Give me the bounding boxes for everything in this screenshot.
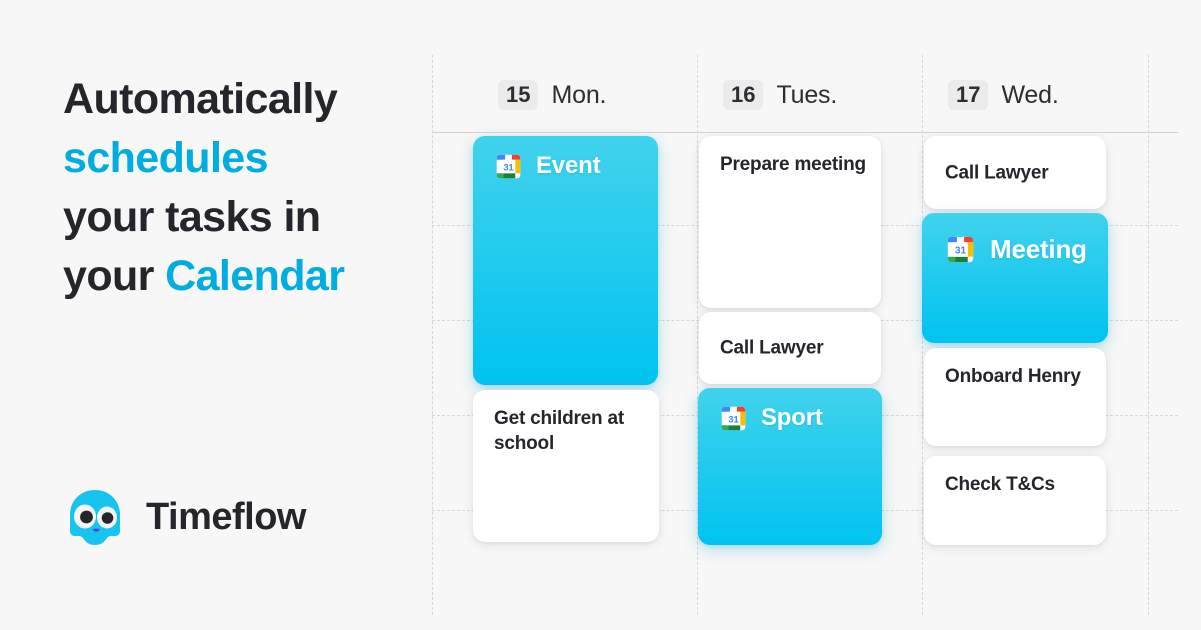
timeflow-ghost-mascot-icon bbox=[64, 486, 126, 548]
task-card-label: Check T&Cs bbox=[945, 472, 1092, 497]
event-card-sport[interactable]: 31 Sport bbox=[698, 388, 882, 545]
brand-logo: Timeflow bbox=[64, 486, 306, 548]
google-calendar-icon: 31 bbox=[495, 153, 522, 180]
headline-line-1: Automatically bbox=[63, 70, 463, 129]
event-card-label: Event bbox=[536, 153, 600, 179]
event-card-header: 31 Sport bbox=[720, 405, 823, 432]
task-card-call-lawyer-tues[interactable]: Call Lawyer bbox=[699, 312, 881, 384]
svg-text:31: 31 bbox=[955, 246, 967, 257]
event-card-header: 31 Meeting bbox=[946, 235, 1087, 264]
svg-text:31: 31 bbox=[728, 414, 738, 424]
task-card-label: Onboard Henry bbox=[945, 364, 1092, 389]
event-card-label: Meeting bbox=[990, 235, 1087, 264]
event-card-header: 31 Event bbox=[495, 153, 600, 180]
task-card-prepare-meeting[interactable]: Prepare meeting bbox=[699, 136, 881, 308]
brand-name: Timeflow bbox=[146, 498, 306, 536]
task-card-label: Call Lawyer bbox=[945, 160, 1092, 185]
task-card-call-lawyer-wed[interactable]: Call Lawyer bbox=[924, 136, 1106, 209]
task-card-check-tcs[interactable]: Check T&Cs bbox=[924, 456, 1106, 545]
headline-line-4-prefix: your bbox=[63, 252, 165, 300]
day-number: 17 bbox=[948, 80, 988, 110]
task-card-label: Prepare meeting bbox=[720, 152, 867, 177]
promo-banner: Automatically schedules your tasks in yo… bbox=[0, 0, 1201, 630]
grid-header-rule bbox=[432, 132, 1178, 133]
day-name: Mon. bbox=[551, 81, 606, 110]
task-card-label: Call Lawyer bbox=[720, 336, 867, 361]
day-name: Tues. bbox=[776, 81, 837, 110]
svg-text:31: 31 bbox=[503, 162, 513, 172]
event-card-meeting[interactable]: 31 Meeting bbox=[922, 213, 1108, 343]
grid-vline bbox=[432, 55, 433, 615]
task-card-label: Get children at school bbox=[494, 406, 645, 456]
day-header-wed[interactable]: 17 Wed. bbox=[948, 80, 1059, 110]
event-card-label: Sport bbox=[761, 405, 823, 431]
headline-line-3: your tasks in bbox=[63, 188, 463, 247]
task-card-get-children-at-school[interactable]: Get children at school bbox=[473, 390, 659, 542]
grid-vline bbox=[1148, 55, 1149, 615]
task-card-onboard-henry[interactable]: Onboard Henry bbox=[924, 348, 1106, 446]
day-number: 15 bbox=[498, 80, 538, 110]
day-name: Wed. bbox=[1001, 81, 1058, 110]
headline-line-2: schedules bbox=[63, 129, 463, 188]
page-title: Automatically schedules your tasks in yo… bbox=[63, 70, 463, 306]
google-calendar-icon: 31 bbox=[720, 405, 747, 432]
headline-line-4-accent: Calendar bbox=[165, 252, 344, 300]
day-header-mon[interactable]: 15 Mon. bbox=[498, 80, 606, 110]
day-number: 16 bbox=[723, 80, 763, 110]
day-header-tues[interactable]: 16 Tues. bbox=[723, 80, 837, 110]
headline-line-4: your Calendar bbox=[63, 247, 463, 306]
google-calendar-icon: 31 bbox=[946, 235, 975, 264]
event-card-event[interactable]: 31 Event bbox=[473, 136, 658, 385]
